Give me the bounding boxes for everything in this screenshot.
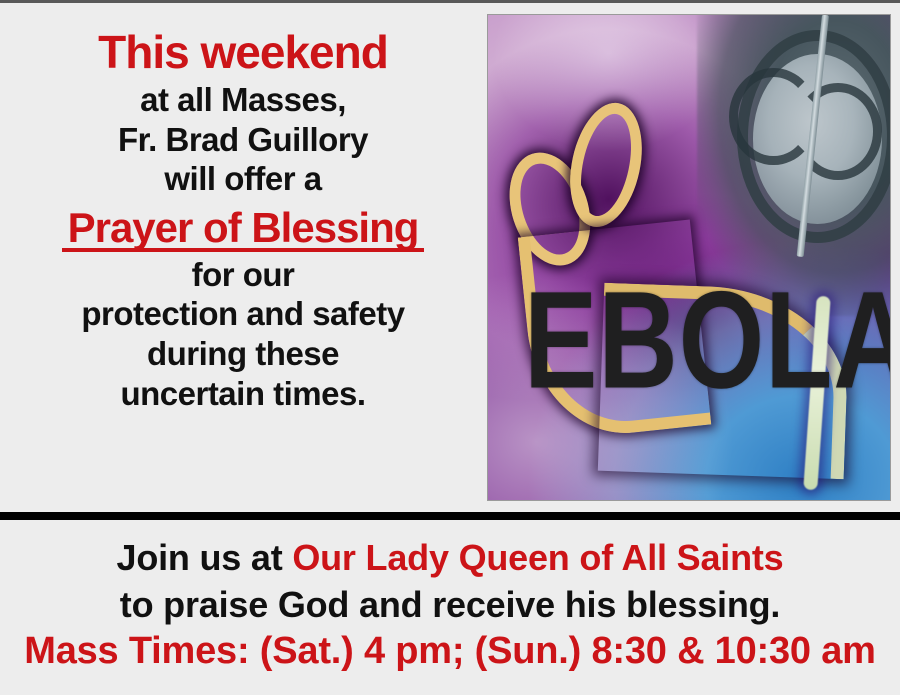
announcement-line-celebrant-name: Fr. Brad Guillory: [0, 123, 486, 157]
flyer-poster: This weekend at all Masses, Fr. Brad Gui…: [0, 0, 900, 695]
banner-line-join-us: Join us at Our Lady Queen of All Saints: [0, 538, 900, 578]
announcement-line-will-offer: will offer a: [0, 162, 486, 196]
announcement-line-this-weekend: This weekend: [0, 29, 486, 76]
top-section: This weekend at all Masses, Fr. Brad Gui…: [0, 3, 900, 511]
announcement-line-protection-and-safety: protection and safety: [0, 297, 486, 331]
photo-canvas: EBOLA: [488, 15, 890, 500]
announcement-line-uncertain-times: uncertain times.: [0, 377, 486, 411]
announcement-line-during-these: during these: [0, 337, 486, 371]
bottom-banner: Join us at Our Lady Queen of All Saints …: [0, 520, 900, 695]
ebola-virus-photo: EBOLA: [487, 14, 891, 501]
announcement-line-for-our: for our: [0, 258, 486, 292]
announcement-line-prayer-of-blessing-wrapper: Prayer of Blessing: [0, 207, 486, 250]
section-divider: [0, 512, 900, 520]
ebola-overlay-title: EBOLA: [524, 287, 890, 395]
announcement-line-prayer-of-blessing: Prayer of Blessing: [68, 207, 419, 250]
banner-line-mass-times: Mass Times: (Sat.) 4 pm; (Sun.) 8:30 & 1…: [0, 631, 900, 673]
banner-line-praise-god: to praise God and receive his blessing.: [0, 585, 900, 625]
banner-parish-name: Our Lady Queen of All Saints: [292, 537, 783, 578]
announcement-text-column: This weekend at all Masses, Fr. Brad Gui…: [0, 3, 486, 511]
announcement-line-at-all-masses: at all Masses,: [0, 83, 486, 117]
banner-join-prefix: Join us at: [117, 537, 293, 578]
